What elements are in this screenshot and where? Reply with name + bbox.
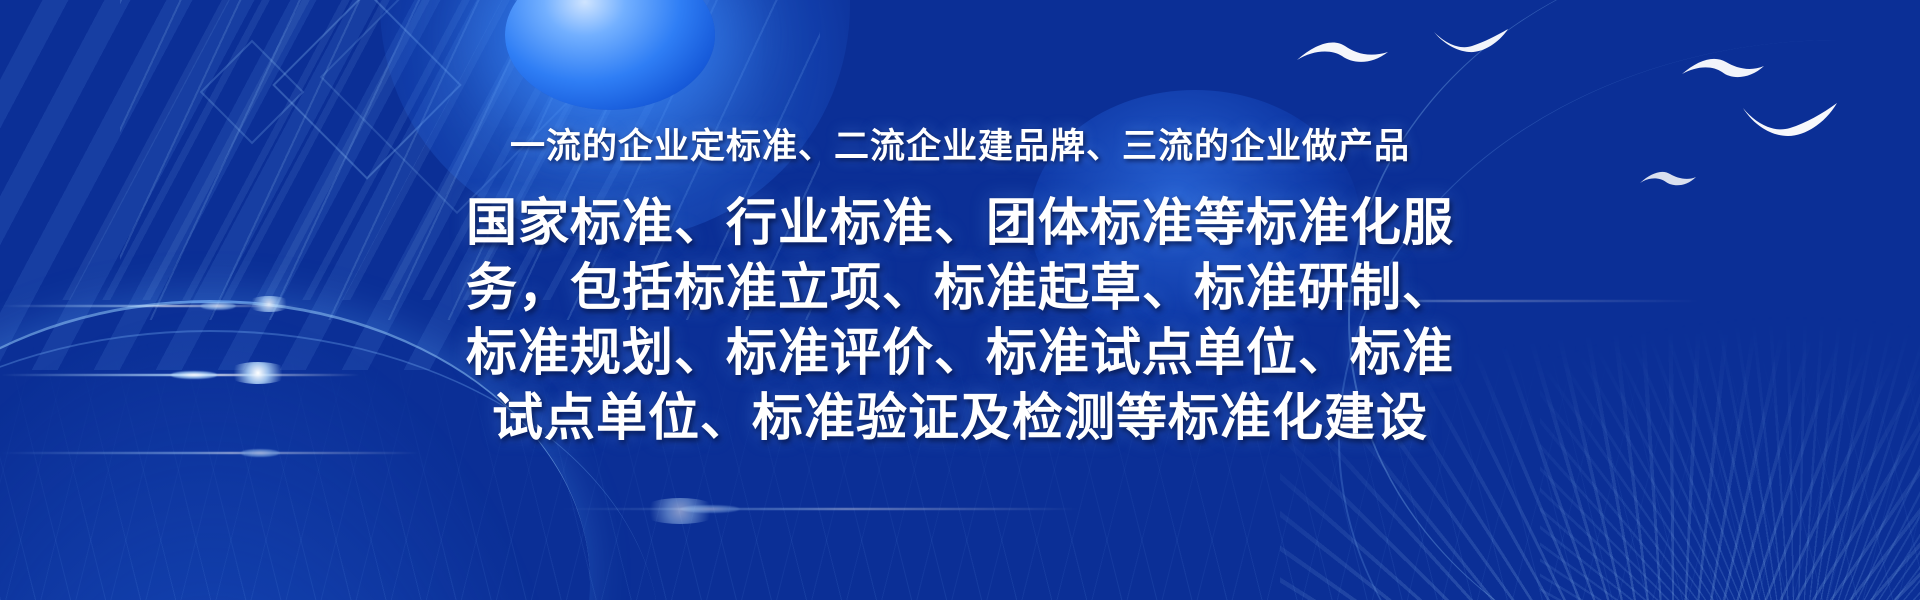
hero-banner: 一流的企业定标准、二流企业建品牌、三流的企业做产品 国家标准、行业标准、团体标准… — [0, 0, 1920, 600]
banner-body-text: 国家标准、行业标准、团体标准等标准化服务，包括标准立项、标准起草、标准研制、标准… — [445, 190, 1475, 450]
banner-text: 一流的企业定标准、二流企业建品牌、三流的企业做产品 国家标准、行业标准、团体标准… — [0, 0, 1920, 600]
banner-headline: 一流的企业定标准、二流企业建品牌、三流的企业做产品 — [0, 118, 1920, 169]
